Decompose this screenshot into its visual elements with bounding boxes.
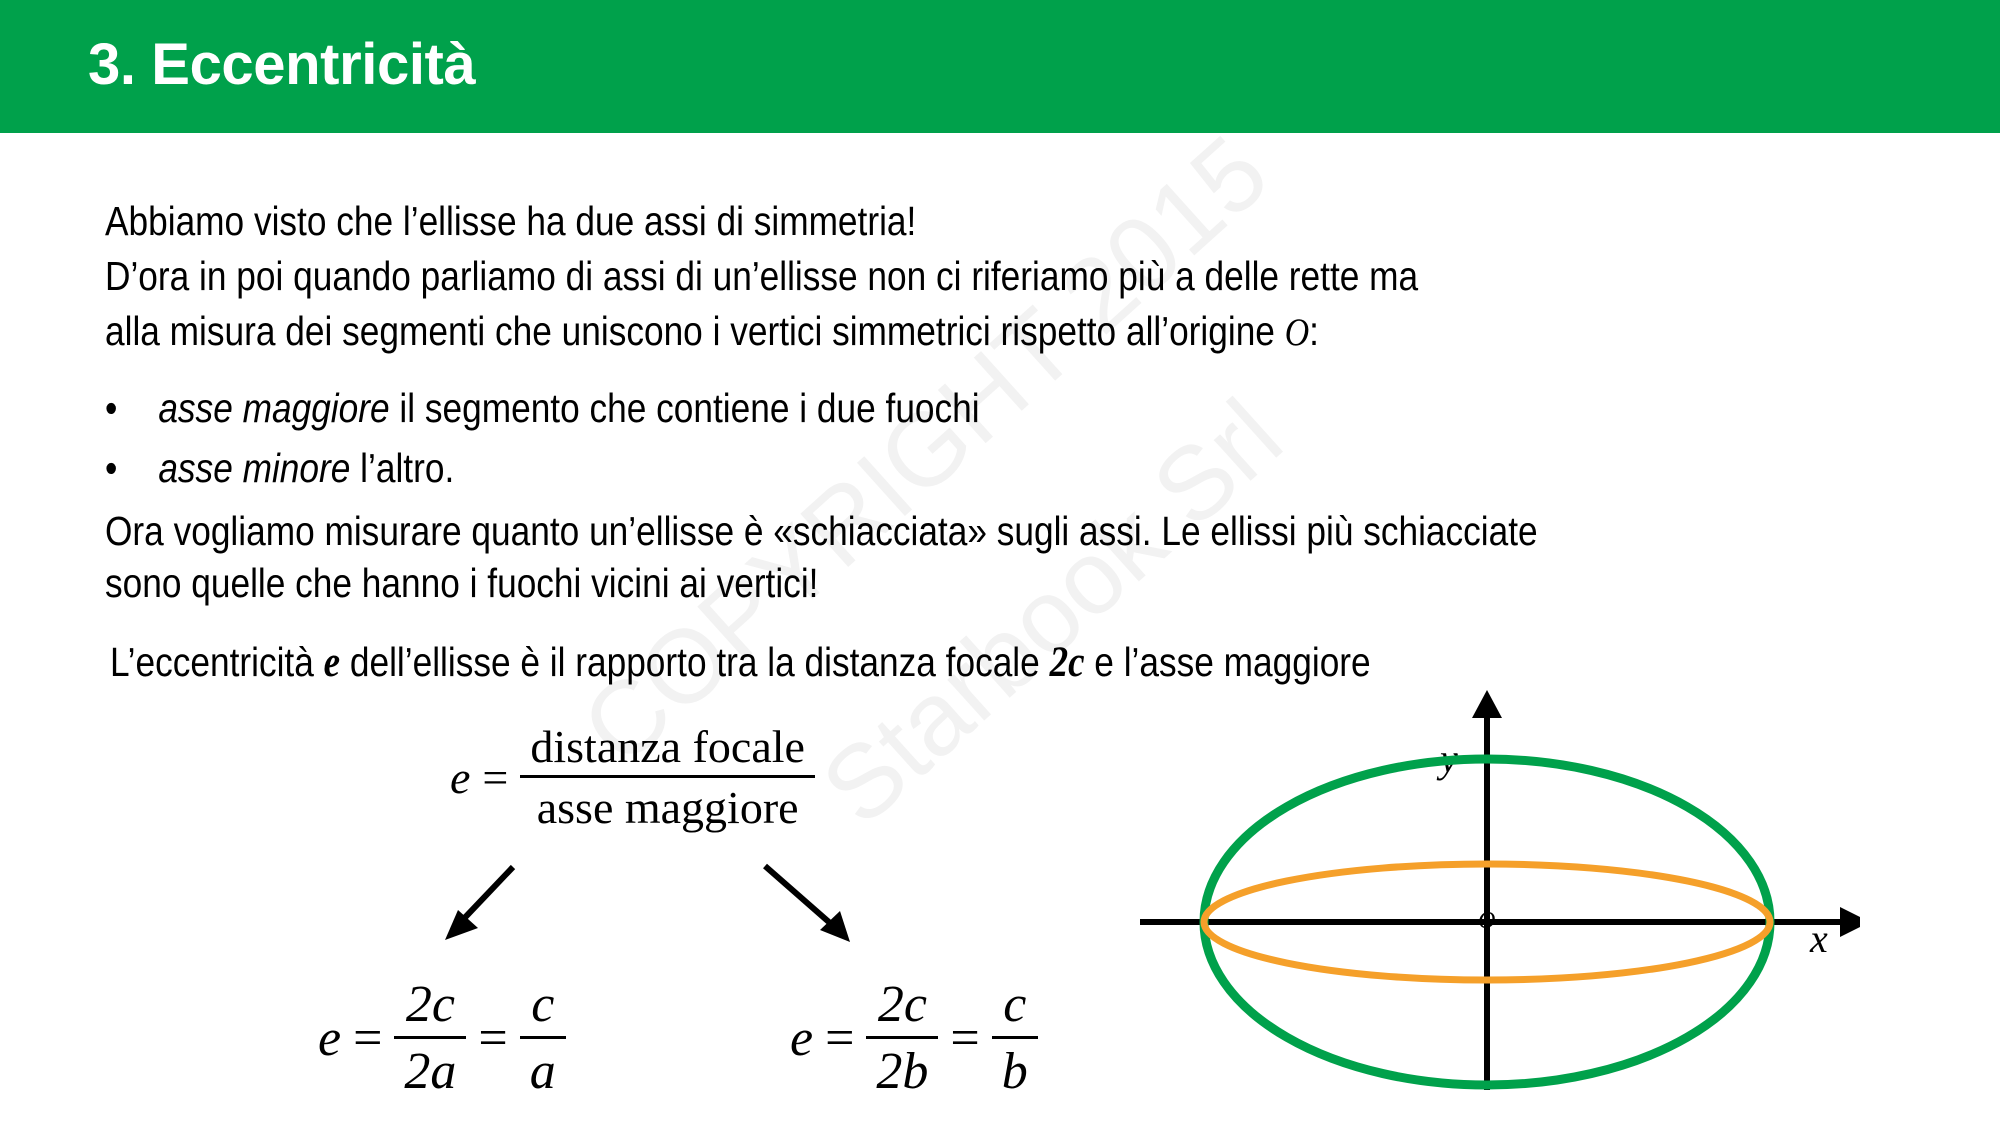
formula-main-equals: = xyxy=(470,751,520,804)
formula-right-fraction-2: cb xyxy=(992,975,1038,1101)
formula-right-num-1: 2c xyxy=(866,975,938,1039)
formula-main-fraction: distanza focaleasse maggiore xyxy=(520,720,815,834)
formula-eccentricity-definition: e=distanza focaleasse maggiore xyxy=(450,720,815,834)
y-axis-arrowhead-icon xyxy=(1472,690,1502,718)
eccentricity-symbol-e: e xyxy=(324,639,340,686)
origin-line-text-b: : xyxy=(1309,308,1319,354)
focal-distance-symbol-2c: 2c xyxy=(1050,639,1085,686)
formula-left-equals-2: = xyxy=(466,1009,519,1068)
formula-right-equals-1: = xyxy=(813,1009,866,1068)
bullet-item-asse-minore: •asse minore l’altro. xyxy=(105,445,454,492)
formula-right-equals-2: = xyxy=(938,1009,991,1068)
formula-eccentricity-minor-axis: e=2c2b=cb xyxy=(790,975,1038,1101)
x-axis-arrowhead-icon xyxy=(1840,907,1860,937)
bullet-2-text: l’altro. xyxy=(350,445,454,491)
formula-left-num-1: 2c xyxy=(394,975,466,1039)
formula-right-lhs: e xyxy=(790,1009,813,1068)
formula-left-equals-1: = xyxy=(341,1009,394,1068)
bullet-item-asse-maggiore: •asse maggiore il segmento che contiene … xyxy=(105,385,980,432)
paragraph-schiacciata: Ora vogliamo misurare quanto un’ellisse … xyxy=(105,505,1567,610)
formula-left-fraction-1: 2c2a xyxy=(394,975,466,1101)
formula-main-denominator: asse maggiore xyxy=(520,778,815,834)
formula-right-den-1: 2b xyxy=(866,1039,938,1101)
paragraph-axes-definition: D’ora in poi quando parliamo di assi di … xyxy=(105,250,1610,302)
ecc-text-c: e l’asse maggiore xyxy=(1085,639,1371,685)
paragraph-intro: Abbiamo visto che l’ellisse ha due assi … xyxy=(105,195,916,247)
bullet-marker-icon: • xyxy=(105,445,158,492)
formula-right-den-2: b xyxy=(992,1039,1038,1101)
formula-right-num-2: c xyxy=(992,975,1038,1039)
formula-left-den-2: a xyxy=(520,1039,566,1101)
bullet-2-emphasis: asse minore xyxy=(158,445,350,491)
bullet-1-text: il segmento che contiene i due fuochi xyxy=(390,385,980,431)
formula-main-lhs: e xyxy=(450,751,470,804)
ecc-text-a: L’eccentricità xyxy=(110,639,324,685)
formula-main-numerator: distanza focale xyxy=(520,720,815,778)
bullet-1-emphasis: asse maggiore xyxy=(158,385,389,431)
slide-canvas: COPYRIGHT 2015 Starbook Srl 3. Eccentric… xyxy=(0,0,2000,1125)
formula-eccentricity-major-axis: e=2c2a=ca xyxy=(318,975,566,1101)
formula-left-lhs: e xyxy=(318,1009,341,1068)
ecc-text-b: dell’ellisse è il rapporto tra la distan… xyxy=(340,639,1050,685)
paragraph-eccentricity-definition: L’eccentricità e dell’ellisse è il rappo… xyxy=(110,635,1371,690)
origin-symbol: O xyxy=(1285,310,1309,354)
formula-left-num-2: c xyxy=(520,975,566,1039)
formula-left-fraction-2: ca xyxy=(520,975,566,1101)
ellipse-diagram xyxy=(1140,690,1860,1090)
bullet-marker-icon: • xyxy=(105,385,158,432)
formula-right-fraction-1: 2c2b xyxy=(866,975,938,1101)
formula-left-den-1: 2a xyxy=(394,1039,466,1101)
origin-line-text-a: alla misura dei segmenti che uniscono i … xyxy=(105,308,1285,354)
paragraph-origin-line: alla misura dei segmenti che uniscono i … xyxy=(105,305,1319,357)
